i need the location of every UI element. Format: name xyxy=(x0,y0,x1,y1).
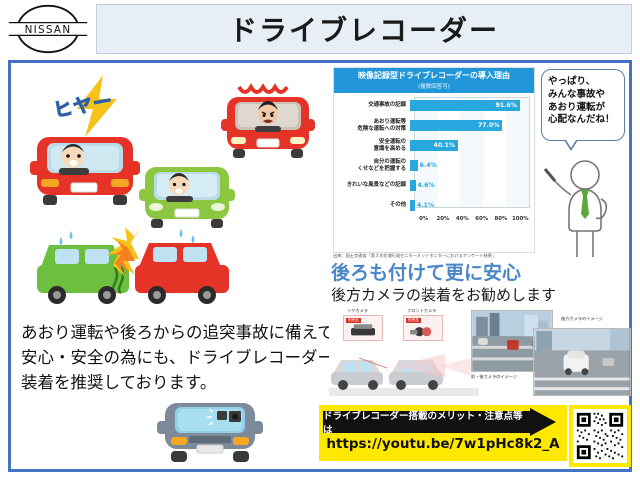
chart-x-tick: 0% xyxy=(414,216,433,222)
front-camera-tag: 別売品 xyxy=(406,318,421,323)
chart-subtitle: (複数回答可) xyxy=(336,82,532,90)
rear-camera-photo xyxy=(533,328,631,396)
nissan-logo-icon: NISSAN xyxy=(4,4,92,54)
svg-text:NISSAN: NISSAN xyxy=(25,24,72,36)
chart-row: きれいな風景などの記録4.6% xyxy=(338,177,530,195)
lead-paragraph: あおり運転や後ろからの追突事故に備えて 安心・安全の為にも、ドライブレコーダーの… xyxy=(21,321,327,395)
headline-block: 後ろも付けて更に安心 後方カメラの装着をお勧めします xyxy=(331,263,631,305)
chart-row: 自分の運転のくせなどを把握する6.4% xyxy=(338,157,530,175)
chart-bars: 交通事故の記録91.6%あおり運転等危険な運転への対策77.0%安全運転の意識を… xyxy=(338,97,530,215)
chart-x-tick: 40% xyxy=(453,216,472,222)
chart-value-label: 40.1% xyxy=(434,140,458,151)
lead-line-3: 装着を推奨しております。 xyxy=(21,371,327,396)
chart-category-label: その他 xyxy=(338,202,410,209)
chart-category-label: 自分の運転のくせなどを把握する xyxy=(338,159,410,173)
chart-bar-track: 40.1% xyxy=(410,137,530,155)
speech-bubble: やっぱり、 みんな事故や あおり運転が 心配なんだね！ xyxy=(541,69,625,141)
page-title-bar: ドライブレコーダー xyxy=(96,4,632,54)
video-link-banner[interactable]: ドライブレコーダー搭載のメリット・注意点等は https://youtu.be/… xyxy=(319,405,567,461)
chart-title: 映像記録型ドライブレコーダーの導入理由 xyxy=(336,71,532,81)
content-panel: ヒヤー xyxy=(8,60,632,472)
bubble-tail xyxy=(564,140,578,151)
chart-x-tick: 100% xyxy=(511,216,530,222)
chart-x-tick: 20% xyxy=(433,216,452,222)
chart-bar-track: 77.0% xyxy=(410,117,530,135)
chart-body: 交通事故の記録91.6%あおり運転等危険な運転への対策77.0%安全運転の意識を… xyxy=(334,93,534,224)
chart-row: あおり運転等危険な運転への対策77.0% xyxy=(338,117,530,135)
headline-main: 後ろも付けて更に安心 xyxy=(331,263,631,285)
chart-bar-track: 4.6% xyxy=(410,177,530,195)
camera-diagram: リヤカメラ 別売品 フロントカメラ 別売品 xyxy=(329,308,479,396)
rear-camera-thumb: 別売品 xyxy=(343,315,383,341)
chart-value-label: 91.6% xyxy=(495,100,519,111)
camera-product-area: リヤカメラ 別売品 フロントカメラ 別売品 xyxy=(329,308,631,398)
bubble-line-4: 心配なんだね！ xyxy=(548,114,618,127)
qr-code-icon xyxy=(575,411,625,461)
chart-header: 映像記録型ドライブレコーダーの導入理由 (複数回答可) xyxy=(334,68,534,93)
banner-arrow: ドライブレコーダー搭載のメリット・注意点等は xyxy=(323,411,563,433)
two-cars-side-view-icon xyxy=(329,344,479,396)
rear-camera-tag: 別売品 xyxy=(346,318,361,323)
chart-category-label: 交通事故の記録 xyxy=(338,102,410,109)
red-angry-car-icon xyxy=(219,83,317,169)
chart-card: 映像記録型ドライブレコーダーの導入理由 (複数回答可) 交通事故の記録91.6%… xyxy=(333,67,535,253)
red-car-front-icon xyxy=(29,121,141,213)
chart-category-label: きれいな風景などの記録 xyxy=(338,182,410,189)
chart-x-tick: 80% xyxy=(491,216,510,222)
bubble-line-1: やっぱり、 xyxy=(548,76,618,89)
chart-bar-track: 91.6% xyxy=(410,97,530,115)
front-camera-thumb: 別売品 xyxy=(403,315,443,341)
lead-line-1: あおり運転や後ろからの追突事故に備えて xyxy=(21,321,327,346)
rear-photo-caption: 後方カメラのイメージ xyxy=(561,316,603,322)
headline-sub: 後方カメラの装着をお勧めします xyxy=(331,286,631,306)
chart-category-label: あおり運転等危険な運転への対策 xyxy=(338,119,410,133)
chart-bar-track: 6.4% xyxy=(410,157,530,175)
chart-bar-track: 4.1% xyxy=(410,197,530,215)
banner-arrow-head xyxy=(530,408,556,436)
bubble-line-3: あおり運転が xyxy=(548,102,618,115)
page-title: ドライブレコーダー xyxy=(229,9,499,49)
chart-value-label: 77.0% xyxy=(478,120,502,131)
chart-x-axis: 0%20%40%60%80%100% xyxy=(414,216,530,222)
lead-line-2: 安心・安全の為にも、ドライブレコーダーの xyxy=(21,346,327,371)
page-root: NISSAN ドライブレコーダー ヒヤー xyxy=(0,0,640,480)
chart-row: その他4.1% xyxy=(338,197,530,215)
rear-camera-label: リヤカメラ xyxy=(347,308,368,314)
chart-x-tick: 60% xyxy=(472,216,491,222)
banner-arrow-body: ドライブレコーダー搭載のメリット・注意点等は xyxy=(323,411,531,433)
chart-source-note: 出典：国土交通省「第３次交通行政モニターネットモニターにおけるアンケート結果」 xyxy=(333,253,543,258)
gray-car-with-dashcam-icon xyxy=(151,393,269,471)
chart-category-label: 安全運転の意識を高める xyxy=(338,139,410,153)
banner-arrow-label: ドライブレコーダー搭載のメリット・注意点等は xyxy=(323,408,531,436)
front-rear-photo-caption: 前・後カメラのイメージ xyxy=(471,374,517,380)
illustration-area: ヒヤー xyxy=(11,63,327,318)
front-camera-label: フロントカメラ xyxy=(407,308,436,314)
chart-value-label: 4.1% xyxy=(415,200,434,211)
chart-bar xyxy=(410,160,418,171)
page-header: NISSAN ドライブレコーダー xyxy=(0,0,640,58)
qr-code[interactable] xyxy=(569,405,631,467)
bubble-line-2: みんな事故や xyxy=(548,89,618,102)
chart-row: 安全運転の意識を高める40.1% xyxy=(338,137,530,155)
chart-value-label: 6.4% xyxy=(418,160,437,171)
video-url[interactable]: https://youtu.be/7w1pHc8k2_A xyxy=(319,436,567,452)
rear-end-collision-icon xyxy=(31,215,241,315)
nissan-logo: NISSAN xyxy=(0,0,96,58)
chart-row: 交通事故の記録91.6% xyxy=(338,97,530,115)
chart-value-label: 4.6% xyxy=(416,180,435,191)
businessman-pointer-icon xyxy=(543,155,623,260)
qr-code-inner xyxy=(573,409,627,463)
